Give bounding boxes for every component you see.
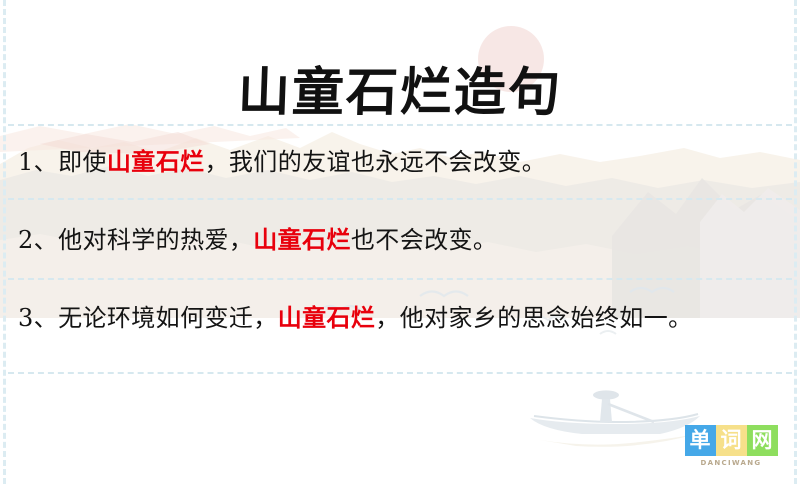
- divider-rule-bottom: [8, 372, 792, 374]
- site-logo[interactable]: 单 词 网 DANCIWANG: [681, 425, 781, 467]
- sentence-1-keyword: 山童石烂: [107, 147, 205, 176]
- sentence-item-3: 3、无论环境如何变迁，山童石烂，他对家乡的思念始终如一。: [0, 296, 800, 340]
- sentence-2-index: 2、: [18, 226, 58, 254]
- slide-page: 山童石烂造句 1、即使山童石烂，我们的友谊也永远不会改变。 2、他对科学的热爱，…: [0, 0, 800, 484]
- logo-tile-2: 词: [716, 425, 747, 456]
- sentence-item-1: 1、即使山童石烂，我们的友谊也永远不会改变。: [0, 140, 800, 184]
- page-title: 山童石烂造句: [237, 63, 563, 123]
- logo-subtitle: DANCIWANG: [681, 459, 781, 467]
- sentence-list: 1、即使山童石烂，我们的友谊也永远不会改变。 2、他对科学的热爱，山童石烂也不会…: [0, 134, 800, 364]
- logo-tile-3: 网: [747, 425, 778, 456]
- logo-tile-1: 单: [685, 425, 716, 456]
- sentence-1-before: 即使: [58, 148, 107, 176]
- sentence-3-index: 3、: [18, 304, 58, 332]
- sentence-2-before: 他对科学的热爱，: [58, 226, 253, 254]
- sentence-2-keyword: 山童石烂: [253, 225, 351, 254]
- logo-tiles: 单 词 网: [681, 425, 781, 456]
- sentence-3-after: ，他对家乡的思念始终如一。: [375, 304, 692, 332]
- sentence-2-after: 也不会改变。: [351, 226, 497, 254]
- sentence-item-2: 2、他对科学的热爱，山童石烂也不会改变。: [0, 218, 800, 262]
- sentence-3-keyword: 山童石烂: [278, 303, 376, 332]
- sentence-1-index: 1、: [18, 148, 58, 176]
- sentence-1-after: ，我们的友谊也永远不会改变。: [205, 148, 547, 176]
- sentence-3-before: 无论环境如何变迁，: [58, 304, 278, 332]
